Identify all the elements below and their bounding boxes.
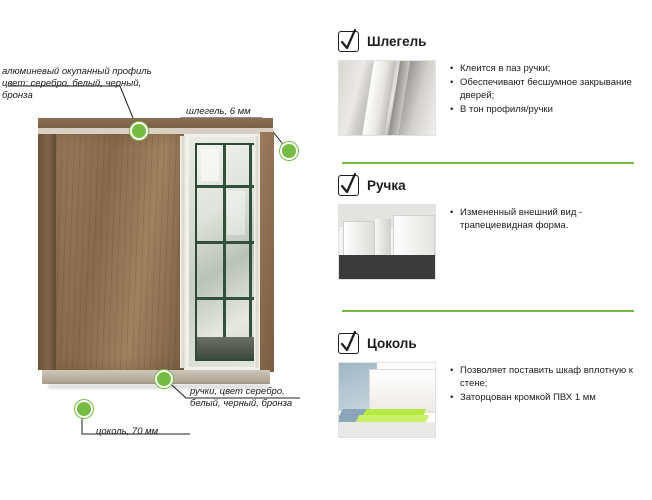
- mirror-mullion-v1: [223, 145, 226, 359]
- callout-label-plinth: цоколь, 70 мм: [96, 426, 226, 438]
- list-item: В тон профиля/ручки: [460, 103, 644, 116]
- list-item: Измененный внешний вид - трапециевидная …: [460, 206, 644, 232]
- callout-dot-profile: [130, 122, 148, 140]
- check-icon: [338, 31, 359, 52]
- mirror-mullion-v2: [249, 145, 252, 359]
- callout-dot-plinth: [75, 400, 93, 418]
- list-item: Обеспечивают бесшумное закрывание дверей…: [460, 76, 644, 102]
- card-shlegel-bullets: Клеится в паз ручки; Обеспечивают бесшум…: [448, 60, 644, 136]
- card-tsokol-body: Позволяет поставить шкаф вплотную к стен…: [338, 362, 644, 438]
- card-shlegel: Шлегель Клеится в паз ручки; Обеспечиваю…: [338, 28, 644, 136]
- card-ruchka-header: Ручка: [338, 172, 644, 198]
- card-divider-2: [342, 310, 634, 312]
- card-tsokol-header: Цоколь: [338, 330, 644, 356]
- card-ruchka: Ручка Измененный внешний вид - трапециев…: [338, 172, 644, 280]
- callout-dot-handles: [155, 370, 173, 388]
- callout-dot-shlegel: [280, 142, 298, 160]
- mirror-highlight-2: [227, 191, 245, 235]
- wardrobe-door-left: [56, 134, 186, 370]
- handle-profile-left: [180, 136, 186, 368]
- wardrobe-left-side: [38, 134, 56, 370]
- card-ruchka-bullets: Измененный внешний вид - трапециевидная …: [448, 204, 644, 280]
- card-ruchka-title: Ручка: [367, 178, 406, 193]
- callout-label-handles: ручки, цвет серебро, белый, черный, брон…: [190, 386, 320, 410]
- page-root: алюминевый окупанный профиль цвет: сереб…: [0, 0, 652, 500]
- wardrobe-graphic: [38, 118, 273, 388]
- plinth-photo: [338, 362, 436, 438]
- mirror-highlight-1: [201, 149, 219, 181]
- card-shlegel-body: Клеится в паз ручки; Обеспечивают бесшум…: [338, 60, 644, 136]
- check-icon: [338, 333, 359, 354]
- card-shlegel-title: Шлегель: [367, 34, 426, 49]
- wardrobe-right-side: [260, 132, 274, 372]
- callout-label-profile: алюминевый окупанный профиль цвет: сереб…: [2, 66, 172, 102]
- card-tsokol: Цоколь Позволяет поставить шкаф вплотную…: [338, 330, 644, 438]
- card-tsokol-title: Цоколь: [367, 336, 417, 351]
- check-icon: [338, 175, 359, 196]
- card-tsokol-bullets: Позволяет поставить шкаф вплотную к стен…: [448, 362, 644, 438]
- callout-label-shlegel: шлегель, 6 мм: [186, 106, 306, 118]
- list-item: Заторцован кромкой ПВХ 1 мм: [460, 391, 644, 404]
- handle-photo: [338, 204, 436, 280]
- wardrobe-illustration: алюминевый окупанный профиль цвет: сереб…: [0, 0, 330, 500]
- list-item: Клеится в паз ручки;: [460, 62, 644, 75]
- handle-profile-right: [254, 136, 260, 368]
- feature-cards: Шлегель Клеится в паз ручки; Обеспечиваю…: [330, 0, 652, 500]
- shlegel-photo: [338, 60, 436, 136]
- card-divider-1: [342, 162, 634, 164]
- card-ruchka-body: Измененный внешний вид - трапециевидная …: [338, 204, 644, 280]
- card-shlegel-header: Шлегель: [338, 28, 644, 54]
- list-item: Позволяет поставить шкаф вплотную к стен…: [460, 364, 644, 390]
